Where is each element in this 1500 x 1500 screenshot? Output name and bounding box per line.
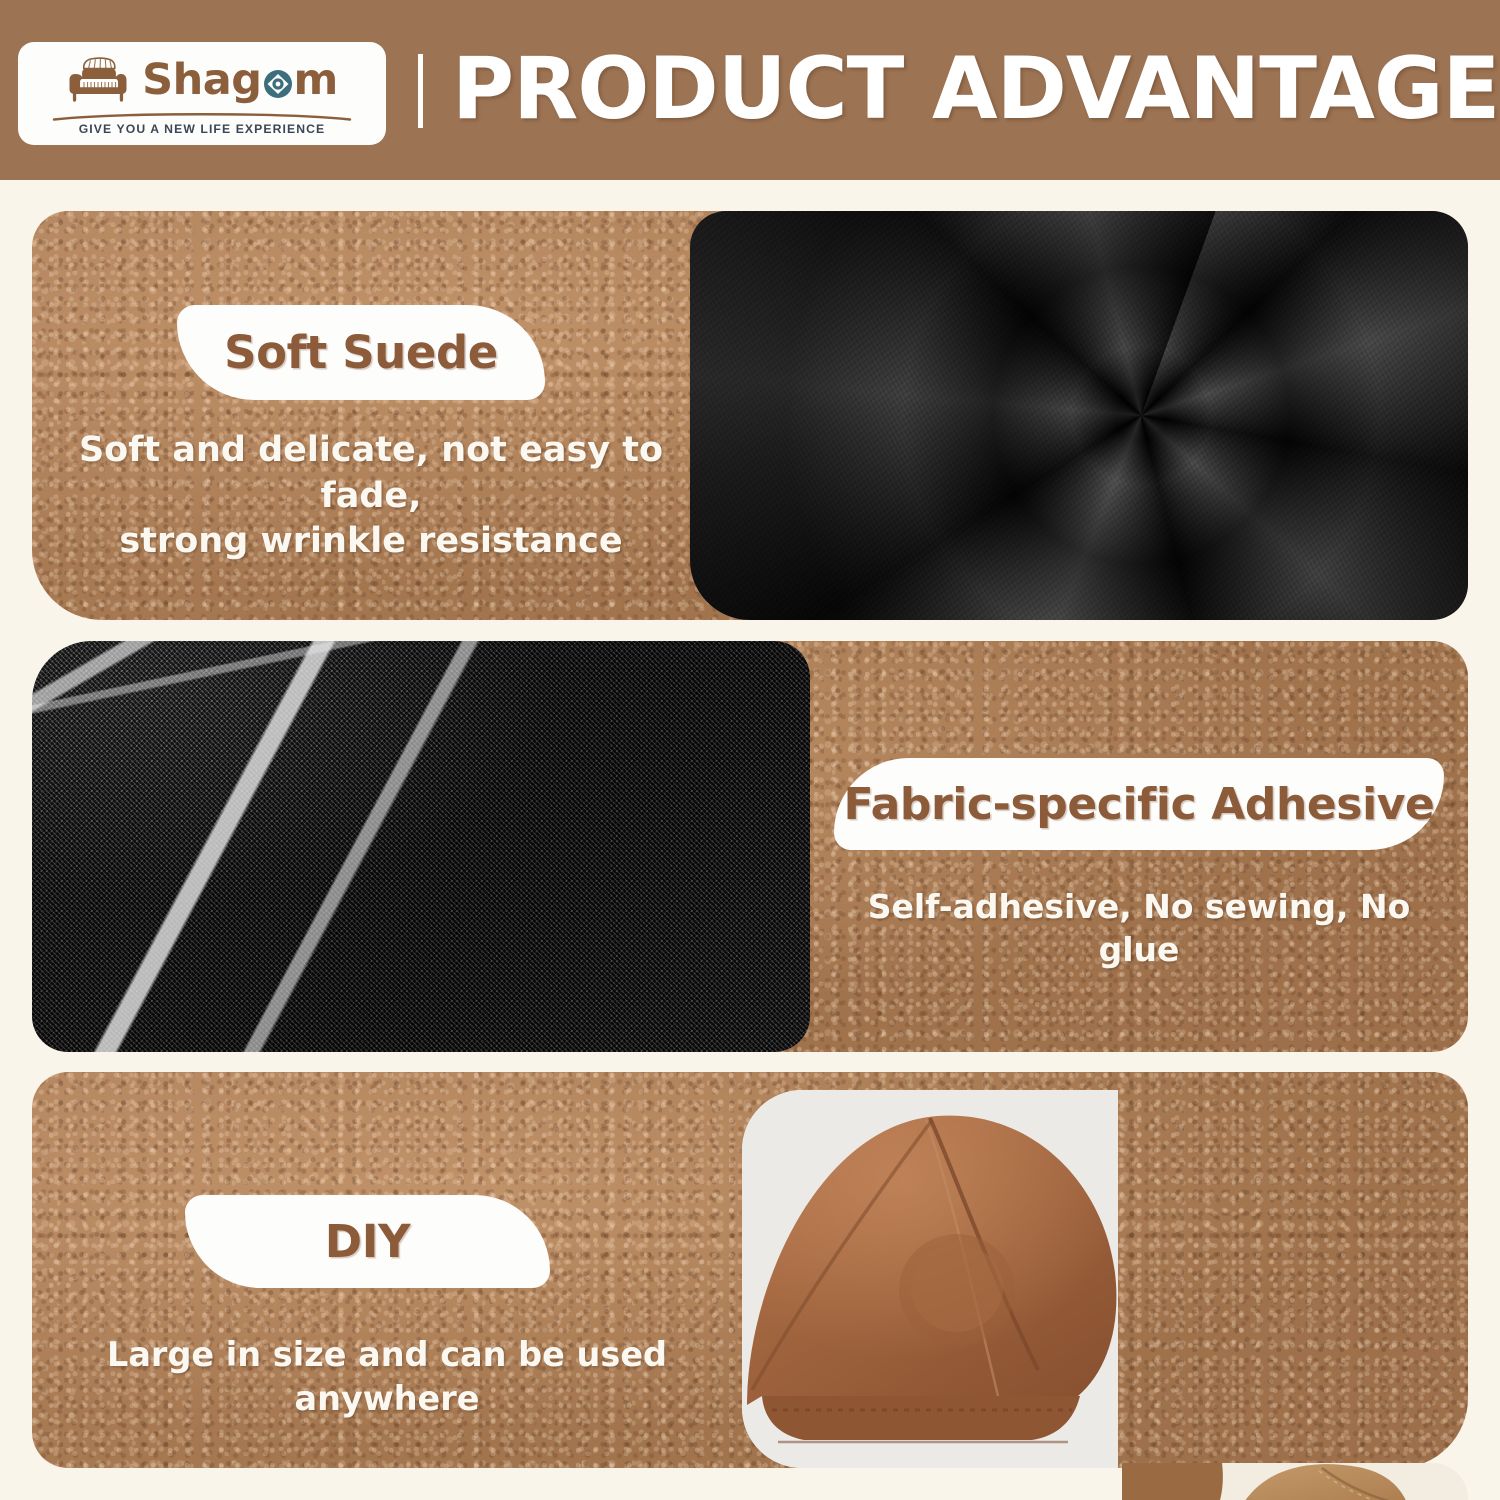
feature-label-text: Fabric-specific Adhesive xyxy=(843,779,1434,830)
logo-brand-head: Shag xyxy=(142,59,261,102)
logo-tagline: GIVE YOU A NEW LIFE EXPERIENCE xyxy=(79,122,326,136)
logo-brand-text: Shag m xyxy=(142,59,338,102)
sofa-icon xyxy=(66,56,132,108)
feature-label-adhesive: Fabric-specific Adhesive xyxy=(834,758,1444,850)
black-suede-fabric-photo xyxy=(690,211,1468,620)
brand-logo: Shag m GIVE YOU A NEW LIFE EXPERIENCE xyxy=(18,42,386,145)
feature-description-adhesive: Self-adhesive, No sewing, No glue xyxy=(850,886,1428,972)
logo-wordmark-row: Shag m xyxy=(66,54,338,110)
feature-label-diy: DIY xyxy=(185,1195,550,1288)
feature-label-text: DIY xyxy=(325,1215,410,1268)
eye-o-icon xyxy=(263,69,293,99)
header-banner: Shag m GIVE YOU A NEW LIFE EXPERIENCE PR… xyxy=(0,0,1500,180)
logo-swoosh-divider xyxy=(52,111,352,121)
adhesive-backing-photo xyxy=(32,641,810,1052)
page-title: PRODUCT ADVANTAGE xyxy=(452,38,1499,140)
product-advantage-infographic: Shag m GIVE YOU A NEW LIFE EXPERIENCE PR… xyxy=(0,0,1500,1500)
feature-description-diy: Large in size and can be used anywhere xyxy=(62,1333,712,1420)
feature-label-text: Soft Suede xyxy=(224,326,498,379)
suede-platform-boots-photo xyxy=(1122,1463,1468,1500)
flat-cap-illustration xyxy=(742,1090,1118,1468)
logo-brand-tail: m xyxy=(294,59,338,102)
feature-label-soft-suede: Soft Suede xyxy=(177,305,545,400)
suede-flat-cap-photo xyxy=(742,1090,1118,1468)
header-divider xyxy=(418,54,423,128)
feature-description-soft-suede: Soft and delicate, not easy to fade, str… xyxy=(76,428,666,565)
platform-boot-illustration xyxy=(1122,1463,1468,1500)
